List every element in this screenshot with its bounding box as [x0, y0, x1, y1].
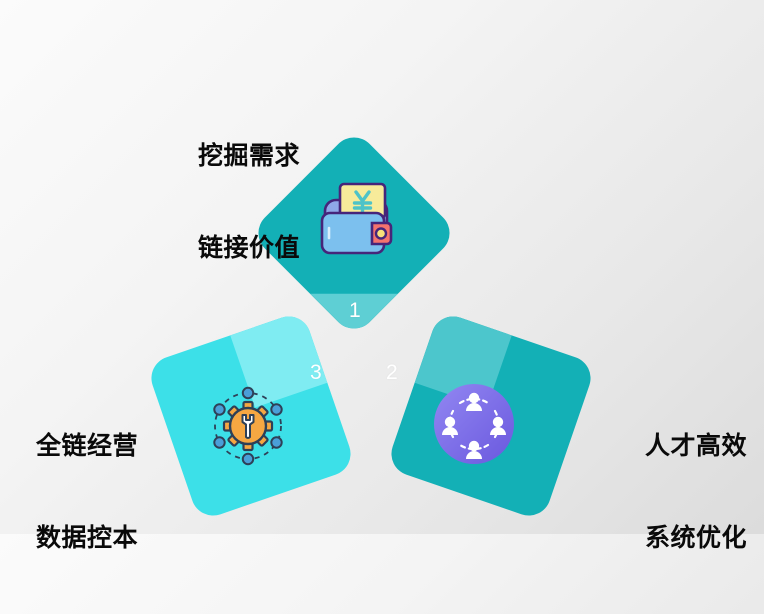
label-top-line1: 挖掘需求 [198, 141, 300, 172]
label-left-line2: 数据控本 [36, 523, 138, 554]
step-number-3: 3 [310, 361, 322, 385]
label-right: 人才高效 系统优化 [645, 370, 747, 614]
label-right-line2: 系统优化 [645, 523, 747, 554]
step-number-2: 2 [386, 361, 398, 385]
step-number-1: 1 [349, 299, 361, 323]
wallet-icon [309, 176, 405, 268]
people-network-icon [433, 383, 515, 465]
label-top-line2: 链接价值 [198, 233, 300, 264]
label-right-line1: 人才高效 [645, 431, 747, 462]
label-left: 全链经营 数据控本 [36, 370, 138, 614]
gear-wrench-icon [205, 383, 291, 469]
infographic-canvas: 1 挖掘需求 链接价值 [0, 0, 764, 534]
label-top: 挖掘需求 链接价值 [198, 80, 300, 324]
label-left-line1: 全链经营 [36, 431, 138, 462]
